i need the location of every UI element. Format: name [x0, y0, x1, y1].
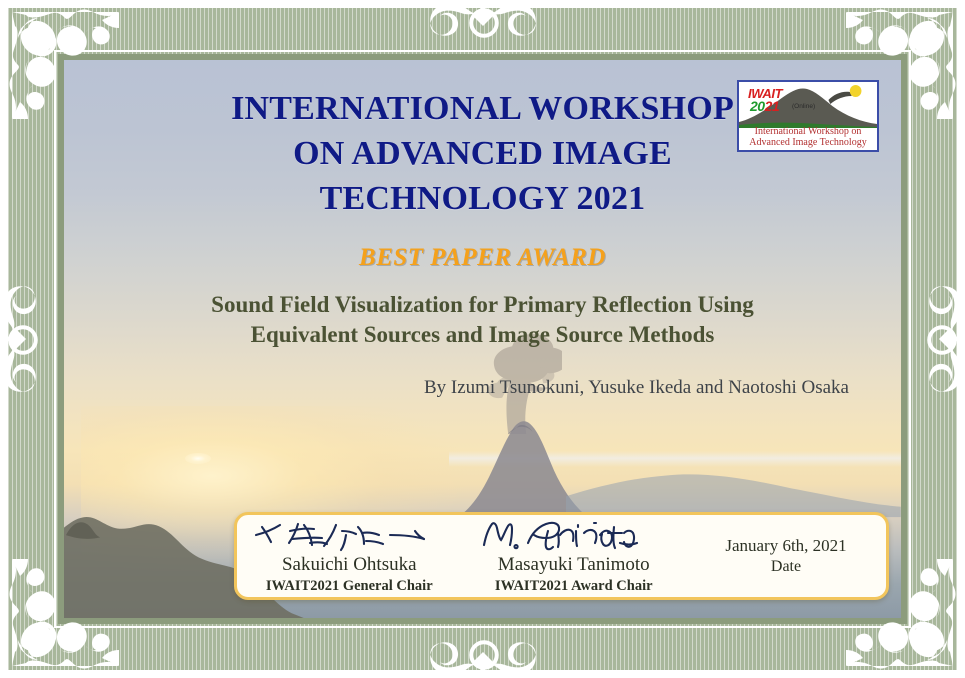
authors-line: By Izumi Tsunokuni, Yusuke Ikeda and Nao…: [94, 377, 871, 399]
paper-title: Sound Field Visualization for Primary Re…: [94, 290, 871, 351]
photo-mat: INTERNATIONAL WORKSHOP ON ADVANCED IMAGE…: [58, 54, 907, 624]
signature-mark-tanimoto-icon: [474, 519, 674, 553]
iwait-logo: IWAIT 2021 (Online) International Worksh…: [737, 80, 879, 152]
signer-role: IWAIT2021 General Chair: [266, 578, 433, 595]
signer-name: Sakuichi Ohtsuka: [282, 554, 417, 576]
signature-block-award-chair: Masayuki Tanimoto IWAIT2021 Award Chair: [462, 515, 687, 597]
signature-block-general-chair: Sakuichi Ohtsuka IWAIT2021 General Chair: [237, 515, 462, 597]
main-title-line-2: ON ADVANCED IMAGE: [178, 131, 787, 176]
main-title-line-3: TECHNOLOGY 2021: [178, 176, 787, 221]
logo-caption-line-1: International Workshop on: [739, 126, 877, 137]
paper-title-line-1: Sound Field Visualization for Primary Re…: [152, 290, 813, 321]
sakurajima-sunset-photo: INTERNATIONAL WORKSHOP ON ADVANCED IMAGE…: [64, 60, 901, 618]
award-certificate: INTERNATIONAL WORKSHOP ON ADVANCED IMAGE…: [0, 0, 965, 678]
logo-year-prefix: 20: [750, 98, 765, 114]
main-title-line-1: INTERNATIONAL WORKSHOP: [178, 86, 787, 131]
logo-year-suffix: 21: [765, 98, 780, 114]
logo-caption: International Workshop on Advanced Image…: [739, 126, 877, 148]
signature-mark-ohtsuka-icon: [254, 519, 444, 553]
logo-online-tag: (Online): [792, 103, 815, 110]
paper-title-line-2: Equivalent Sources and Image Source Meth…: [152, 320, 813, 351]
date-value: January 6th, 2021: [725, 535, 846, 557]
signer-name: Masayuki Tanimoto: [498, 554, 650, 576]
date-label: Date: [771, 557, 801, 578]
award-label: BEST PAPER AWARD: [94, 244, 871, 272]
logo-year: 2021: [750, 98, 779, 114]
signer-role: IWAIT2021 Award Chair: [495, 578, 653, 595]
date-block: January 6th, 2021 Date: [686, 515, 886, 597]
signature-bar: Sakuichi Ohtsuka IWAIT2021 General Chair: [234, 512, 889, 600]
logo-artwork: IWAIT 2021 (Online): [739, 82, 877, 128]
logo-caption-line-2: Advanced Image Technology: [739, 137, 877, 148]
